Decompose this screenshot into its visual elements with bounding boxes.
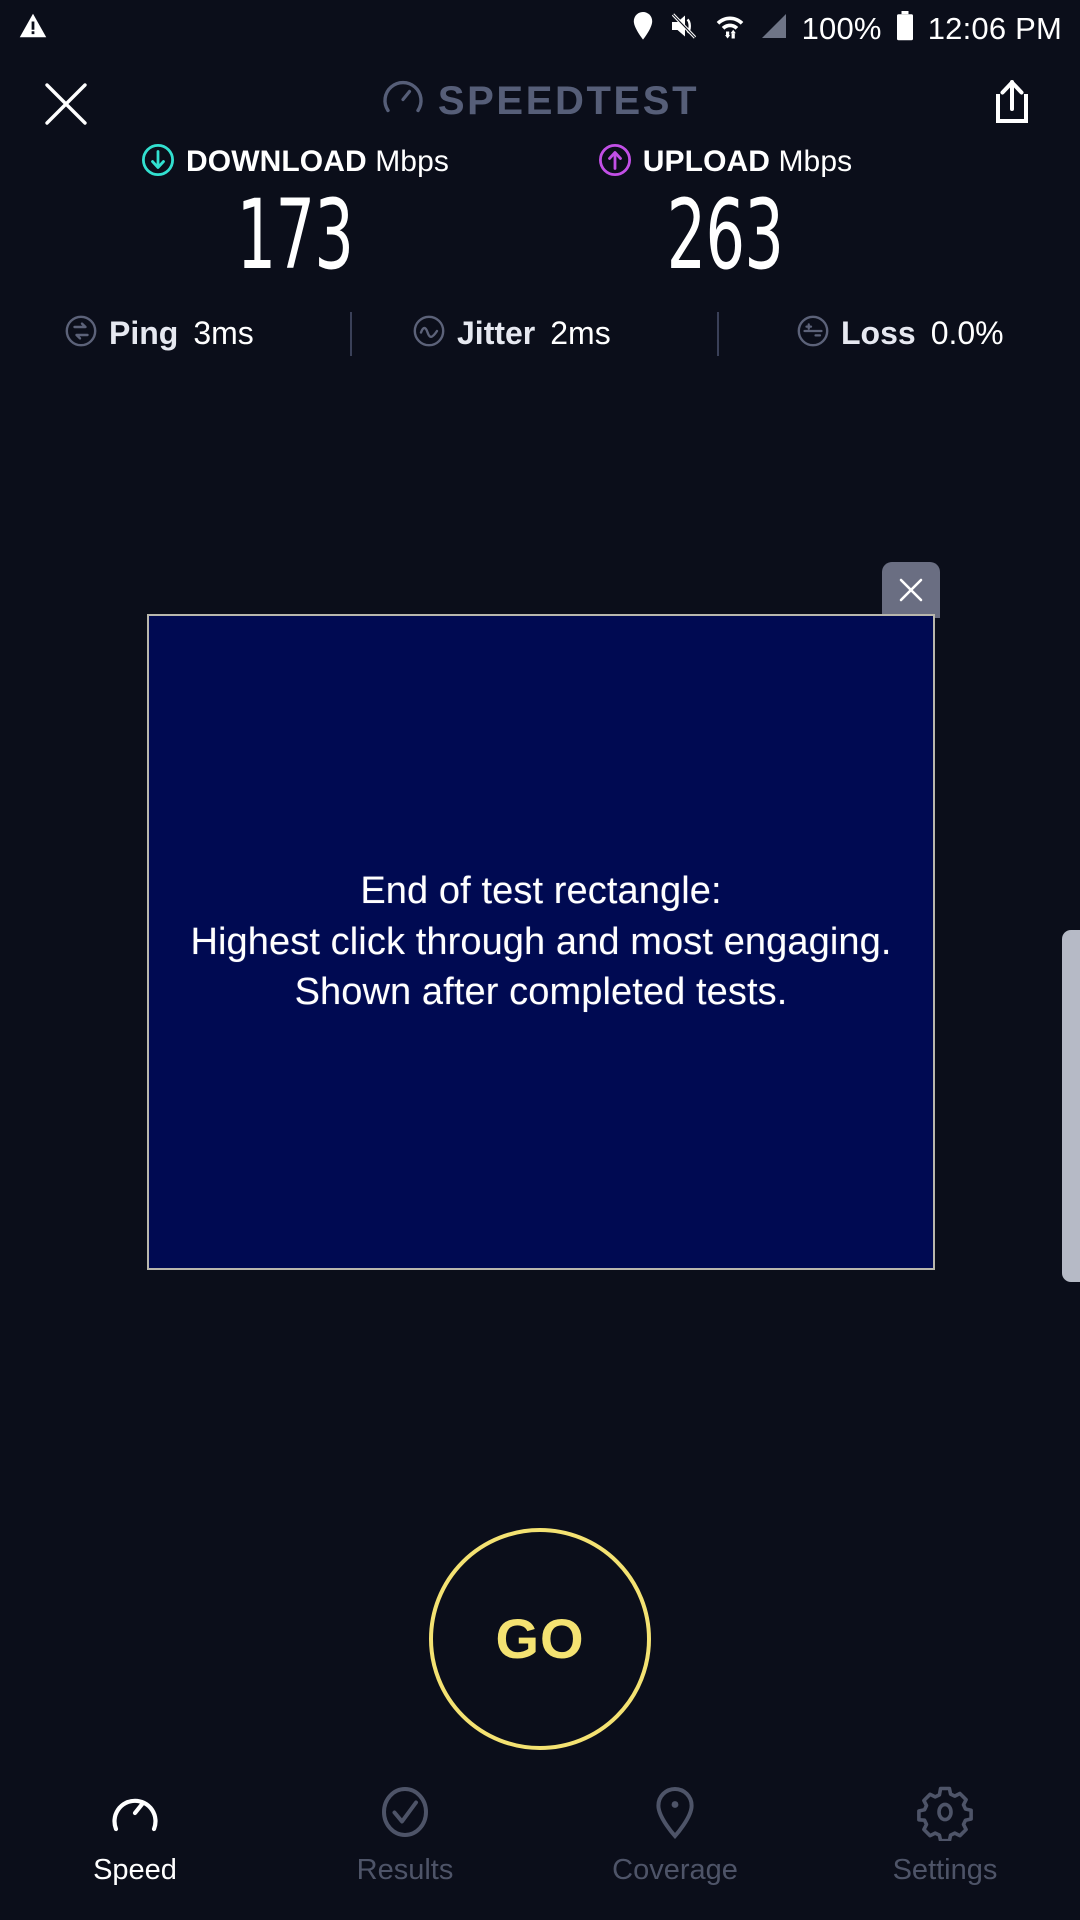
nav-item-settings-label: Settings <box>893 1856 998 1885</box>
download-value: 173 <box>237 187 354 283</box>
bottom-navigation: Speed Results Coverage <box>0 1760 1080 1920</box>
ad-text: End of test rectangle: Highest click thr… <box>190 866 891 1018</box>
upload-result: UPLOAD Mbps 263 <box>490 143 960 283</box>
speed-columns: DOWNLOAD Mbps 173 UPLOAD Mbps 263 <box>0 143 1080 283</box>
speedometer-icon <box>106 1778 164 1846</box>
share-icon[interactable] <box>982 70 1042 136</box>
network-metrics-row: Ping 3ms Jitter 2ms <box>0 300 1080 366</box>
jitter-icon <box>412 314 446 353</box>
warning-triangle-icon <box>18 11 48 46</box>
nav-item-results[interactable]: Results <box>270 1760 540 1920</box>
advertisement-banner[interactable]: End of test rectangle: Highest click thr… <box>147 614 935 1270</box>
cellular-signal-icon <box>759 11 789 46</box>
metric-loss-value: 0.0% <box>931 317 1004 349</box>
ad-close-button[interactable] <box>882 562 940 618</box>
nav-item-speed[interactable]: Speed <box>0 1760 270 1920</box>
close-icon[interactable] <box>38 76 94 132</box>
metric-jitter-label: Jitter <box>457 317 535 349</box>
volume-muted-icon <box>669 11 701 46</box>
nav-item-coverage-label: Coverage <box>612 1856 738 1885</box>
clock-label: 12:06 PM <box>928 13 1062 44</box>
nav-item-settings[interactable]: Settings <box>810 1760 1080 1920</box>
metric-divider <box>350 312 352 356</box>
check-circle-icon <box>376 1778 434 1846</box>
speedtest-app-screen: 100% 12:06 PM SPEEDTEST <box>0 0 1080 1920</box>
status-bar-right: 100% 12:06 PM <box>630 10 1062 47</box>
download-result: DOWNLOAD Mbps 173 <box>60 143 530 283</box>
speed-results: DOWNLOAD Mbps 173 UPLOAD Mbps 263 <box>0 143 1080 283</box>
metric-ping-value: 3ms <box>193 317 253 349</box>
metric-ping: Ping 3ms <box>64 300 254 366</box>
metric-loss: Loss 0.0% <box>796 300 1004 366</box>
upload-arrow-icon <box>598 143 632 182</box>
loss-icon <box>796 314 830 353</box>
nav-item-speed-label: Speed <box>93 1856 177 1885</box>
status-bar: 100% 12:06 PM <box>0 0 1080 56</box>
brand-title: SPEEDTEST <box>438 81 699 121</box>
page-scrollbar[interactable] <box>1062 930 1080 1282</box>
status-bar-left <box>18 11 48 46</box>
metric-divider <box>717 312 719 356</box>
upload-header: UPLOAD Mbps <box>598 143 852 181</box>
go-button[interactable]: GO <box>429 1528 651 1750</box>
location-pin-icon <box>646 1778 704 1846</box>
metric-loss-label: Loss <box>841 317 916 349</box>
metric-ping-label: Ping <box>109 317 178 349</box>
scrollbar-thumb[interactable] <box>1062 930 1080 1282</box>
nav-item-coverage[interactable]: Coverage <box>540 1760 810 1920</box>
close-icon <box>896 575 926 605</box>
download-header: DOWNLOAD Mbps <box>141 143 449 181</box>
app-header: SPEEDTEST <box>0 56 1080 146</box>
battery-full-icon <box>895 10 915 47</box>
gear-icon <box>916 1778 974 1846</box>
nav-item-results-label: Results <box>357 1856 454 1885</box>
go-button-label: GO <box>495 1611 584 1667</box>
speedometer-icon <box>381 77 425 126</box>
ping-icon <box>64 314 98 353</box>
wifi-icon <box>714 11 746 46</box>
metric-jitter-value: 2ms <box>550 317 610 349</box>
download-label: DOWNLOAD Mbps <box>186 145 449 179</box>
download-arrow-icon <box>141 143 175 182</box>
upload-value: 263 <box>667 187 784 283</box>
brand-lockup: SPEEDTEST <box>0 56 1080 146</box>
upload-label: UPLOAD Mbps <box>643 145 852 179</box>
metric-jitter: Jitter 2ms <box>412 300 611 366</box>
battery-percent-label: 100% <box>802 13 882 44</box>
location-pin-icon <box>630 11 656 46</box>
